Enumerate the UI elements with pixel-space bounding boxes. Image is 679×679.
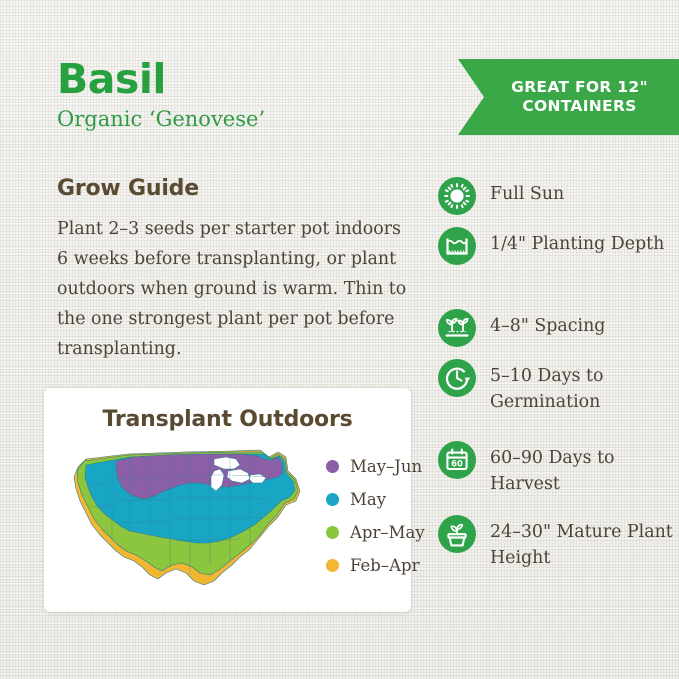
- spec-label-planting-depth: 1/4" Planting Depth: [490, 227, 664, 257]
- spec-row-spacing: 4–8" Spacing: [438, 309, 673, 347]
- transplant-outdoors-card: Transplant Outdoors: [44, 388, 411, 612]
- legend-dot-feb-apr: [326, 559, 339, 572]
- spec-label-mature-height: 24–30" Mature Plant Height: [490, 515, 673, 571]
- planting-depth-icon: [438, 227, 476, 265]
- spec-label-harvest: 60–90 Days to Harvest: [490, 441, 673, 497]
- map-legend: May–Jun May Apr–May Feb–Apr: [326, 450, 425, 582]
- legend-label-may-jun: May–Jun: [350, 457, 422, 476]
- spec-label-full-sun: Full Sun: [490, 177, 564, 207]
- spec-row-planting-depth: 1/4" Planting Depth: [438, 227, 673, 297]
- legend-item-may-jun: May–Jun: [326, 450, 425, 483]
- map-card-title: Transplant Outdoors: [44, 407, 411, 432]
- germination-clock-icon: [438, 359, 476, 397]
- spacing-icon: [438, 309, 476, 347]
- legend-label-apr-may: Apr–May: [350, 523, 425, 542]
- legend-dot-may-jun: [326, 460, 339, 473]
- us-planting-zone-map: [64, 445, 309, 595]
- banner-line-2: CONTAINERS: [522, 97, 636, 115]
- banner-line-1: GREAT FOR 12": [511, 78, 648, 96]
- spec-label-germination: 5–10 Days to Germination: [490, 359, 673, 415]
- legend-dot-may: [326, 493, 339, 506]
- calendar-icon-number: 60: [451, 458, 463, 468]
- legend-label-feb-apr: Feb–Apr: [350, 556, 420, 575]
- container-callout-banner: GREAT FOR 12" CONTAINERS: [458, 59, 679, 135]
- legend-item-may: May: [326, 483, 425, 516]
- full-sun-icon: [438, 177, 476, 215]
- legend-label-may: May: [350, 490, 386, 509]
- page-title: Basil: [57, 57, 166, 101]
- spec-row-germination: 5–10 Days to Germination: [438, 359, 673, 429]
- grow-guide-body-text: Plant 2–3 seeds per starter pot indoors …: [57, 214, 409, 364]
- spec-row-harvest: 60 60–90 Days to Harvest: [438, 441, 673, 503]
- page-subtitle: Organic ‘Genovese’: [57, 106, 265, 132]
- legend-dot-apr-may: [326, 526, 339, 539]
- plant-specs-list: Full Sun 1/4" Planting Depth: [438, 177, 673, 583]
- mature-height-pot-icon: [438, 515, 476, 553]
- spec-row-mature-height: 24–30" Mature Plant Height: [438, 515, 673, 571]
- spec-row-full-sun: Full Sun: [438, 177, 673, 215]
- harvest-calendar-icon: 60: [438, 441, 476, 479]
- spec-label-spacing: 4–8" Spacing: [490, 309, 605, 339]
- legend-item-feb-apr: Feb–Apr: [326, 549, 425, 582]
- grow-guide-heading: Grow Guide: [57, 176, 199, 201]
- legend-item-apr-may: Apr–May: [326, 516, 425, 549]
- seed-packet-panel: Basil Organic ‘Genovese’ GREAT FOR 12" C…: [0, 0, 679, 679]
